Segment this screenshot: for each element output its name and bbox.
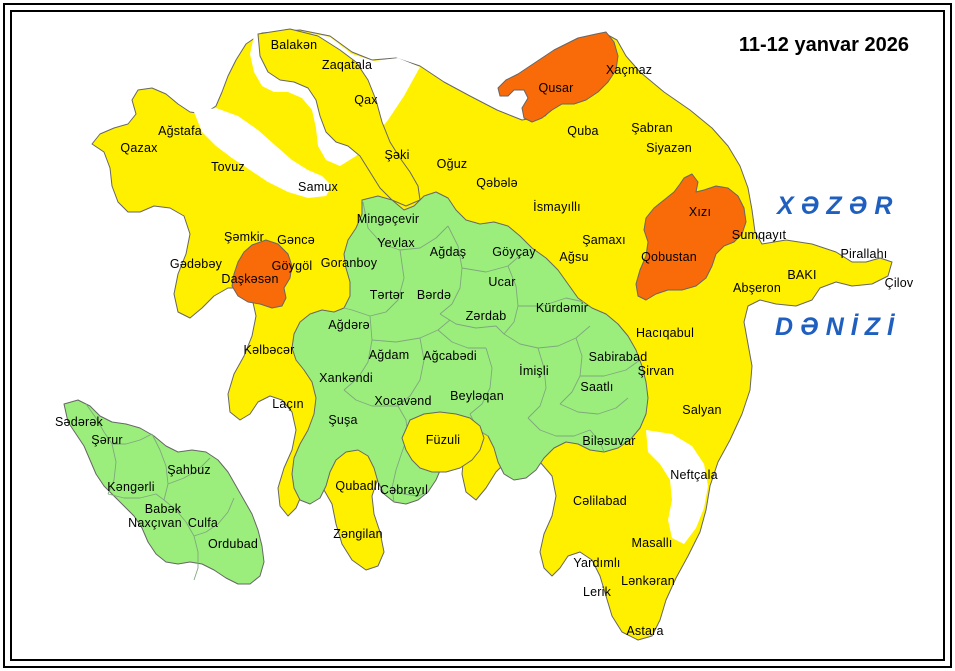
region-label-zəngilan: Zəngilan bbox=[333, 528, 383, 541]
region-label-gədəbəy: Gədəbəy bbox=[170, 258, 222, 271]
region-label-kəngərli: Kəngərli bbox=[107, 481, 154, 494]
region-label-füzuli: Füzuli bbox=[426, 434, 461, 447]
region-label-gəncə: Gəncə bbox=[277, 234, 315, 247]
sea-label-xezer: XƏZƏR bbox=[777, 192, 899, 221]
region-label-qubadlı: Qubadlı bbox=[335, 480, 380, 493]
region-label-naxçıvan: Naxçıvan bbox=[128, 517, 182, 530]
region-label-salyan: Salyan bbox=[682, 404, 721, 417]
region-label-laçın: Laçın bbox=[272, 398, 304, 411]
region-label-masallı: Masallı bbox=[632, 537, 673, 550]
region-label-bərdə: Bərdə bbox=[417, 289, 451, 302]
region-label-goranboy: Goranboy bbox=[321, 257, 378, 270]
region-label-neftçala: Neftçala bbox=[670, 469, 717, 482]
region-label-daşkəsən: Daşkəsən bbox=[221, 273, 278, 286]
region-label-siyazən: Siyazən bbox=[646, 142, 692, 155]
region-label-şamaxı: Şamaxı bbox=[582, 234, 626, 247]
region-label-astara: Astara bbox=[626, 625, 663, 638]
region-label-abşeron: Abşeron bbox=[733, 282, 781, 295]
region-label-şahbuz: Şahbuz bbox=[167, 464, 211, 477]
region-label-pirallahı: Pirallahı bbox=[841, 248, 888, 261]
page-title: 11-12 yanvar 2026 bbox=[739, 34, 909, 57]
region-label-qobustan: Qobustan bbox=[641, 251, 697, 264]
region-label-kürdəmir: Kürdəmir bbox=[536, 302, 588, 315]
region-label-xızı: Xızı bbox=[689, 206, 711, 219]
region-label-şəki: Şəki bbox=[384, 149, 409, 162]
region-label-zərdab: Zərdab bbox=[466, 310, 507, 323]
region-label-xocavənd: Xocavənd bbox=[374, 395, 431, 408]
region-label-balakən: Balakən bbox=[271, 39, 318, 52]
region-label-quba: Quba bbox=[567, 125, 598, 138]
region-label-şirvan: Şirvan bbox=[638, 365, 675, 378]
region-label-oğuz: Oğuz bbox=[437, 158, 468, 171]
region-label-xaçmaz: Xaçmaz bbox=[606, 64, 652, 77]
region-label-ağcabədi: Ağcabədi bbox=[423, 350, 477, 363]
region-label-kəlbəcər: Kəlbəcər bbox=[244, 344, 295, 357]
region-label-ağdaş: Ağdaş bbox=[430, 246, 466, 259]
region-label-ağdam: Ağdam bbox=[369, 349, 410, 362]
region-label-çilov: Çilov bbox=[885, 277, 914, 290]
map-screenshot: 11-12 yanvar 2026 XƏZƏR DƏNİZİ BalakənZa… bbox=[0, 0, 955, 671]
region-label-i̇mişli: İmişli bbox=[519, 365, 549, 378]
region-label-mingəçevir: Mingəçevir bbox=[357, 213, 419, 226]
region-label-sədərək: Sədərək bbox=[55, 416, 103, 429]
region-label-şabran: Şabran bbox=[631, 122, 673, 135]
region-label-sumqayıt: Sumqayıt bbox=[732, 229, 786, 242]
region-label-cəbrayıl: Cəbrayıl bbox=[380, 484, 428, 497]
region-label-tovuz: Tovuz bbox=[211, 161, 245, 174]
region-label-qax: Qax bbox=[354, 94, 378, 107]
region-label-biləsuvar: Biləsuvar bbox=[582, 435, 635, 448]
region-label-göygöl: Göygöl bbox=[272, 260, 313, 273]
region-label-xankəndi: Xankəndi bbox=[319, 372, 373, 385]
region-label-hacıqabul: Hacıqabul bbox=[636, 327, 694, 340]
region-label-şəmkir: Şəmkir bbox=[224, 231, 264, 244]
region-label-şuşa: Şuşa bbox=[328, 414, 357, 427]
region-label-qazax: Qazax bbox=[120, 142, 157, 155]
region-label-lənkəran: Lənkəran bbox=[621, 575, 675, 588]
region-label-ağdərə: Ağdərə bbox=[328, 319, 370, 332]
region-label-yevlax: Yevlax bbox=[377, 237, 415, 250]
region-label-ağstafa: Ağstafa bbox=[158, 125, 202, 138]
region-label-zaqatala: Zaqatala bbox=[322, 59, 372, 72]
region-label-cəlilabad: Cəlilabad bbox=[573, 495, 627, 508]
region-label-tərtər: Tərtər bbox=[370, 289, 405, 302]
region-label-sabirabad: Sabirabad bbox=[589, 351, 648, 364]
region-label-şərur: Şərur bbox=[91, 434, 123, 447]
region-label-samux: Samux bbox=[298, 181, 338, 194]
region-label-baki: BAKI bbox=[787, 269, 816, 282]
region-label-göyçay: Göyçay bbox=[492, 246, 536, 259]
region-label-beyləqan: Beyləqan bbox=[450, 390, 504, 403]
region-label-ağsu: Ağsu bbox=[559, 251, 588, 264]
sea-label-denizi: DƏNİZİ bbox=[775, 313, 901, 342]
region-label-culfa: Culfa bbox=[188, 517, 218, 530]
region-label-yardımlı: Yardımlı bbox=[573, 557, 620, 570]
region-label-i̇smayıllı: İsmayıllı bbox=[533, 201, 581, 214]
region-label-babək: Babək bbox=[145, 503, 181, 516]
region-label-lerik: Lerik bbox=[583, 586, 611, 599]
region-label-ucar: Ucar bbox=[488, 276, 515, 289]
region-label-qusar: Qusar bbox=[538, 82, 573, 95]
region-label-ordubad: Ordubad bbox=[208, 538, 258, 551]
region-label-saatlı: Saatlı bbox=[580, 381, 613, 394]
region-label-qəbələ: Qəbələ bbox=[476, 177, 518, 190]
